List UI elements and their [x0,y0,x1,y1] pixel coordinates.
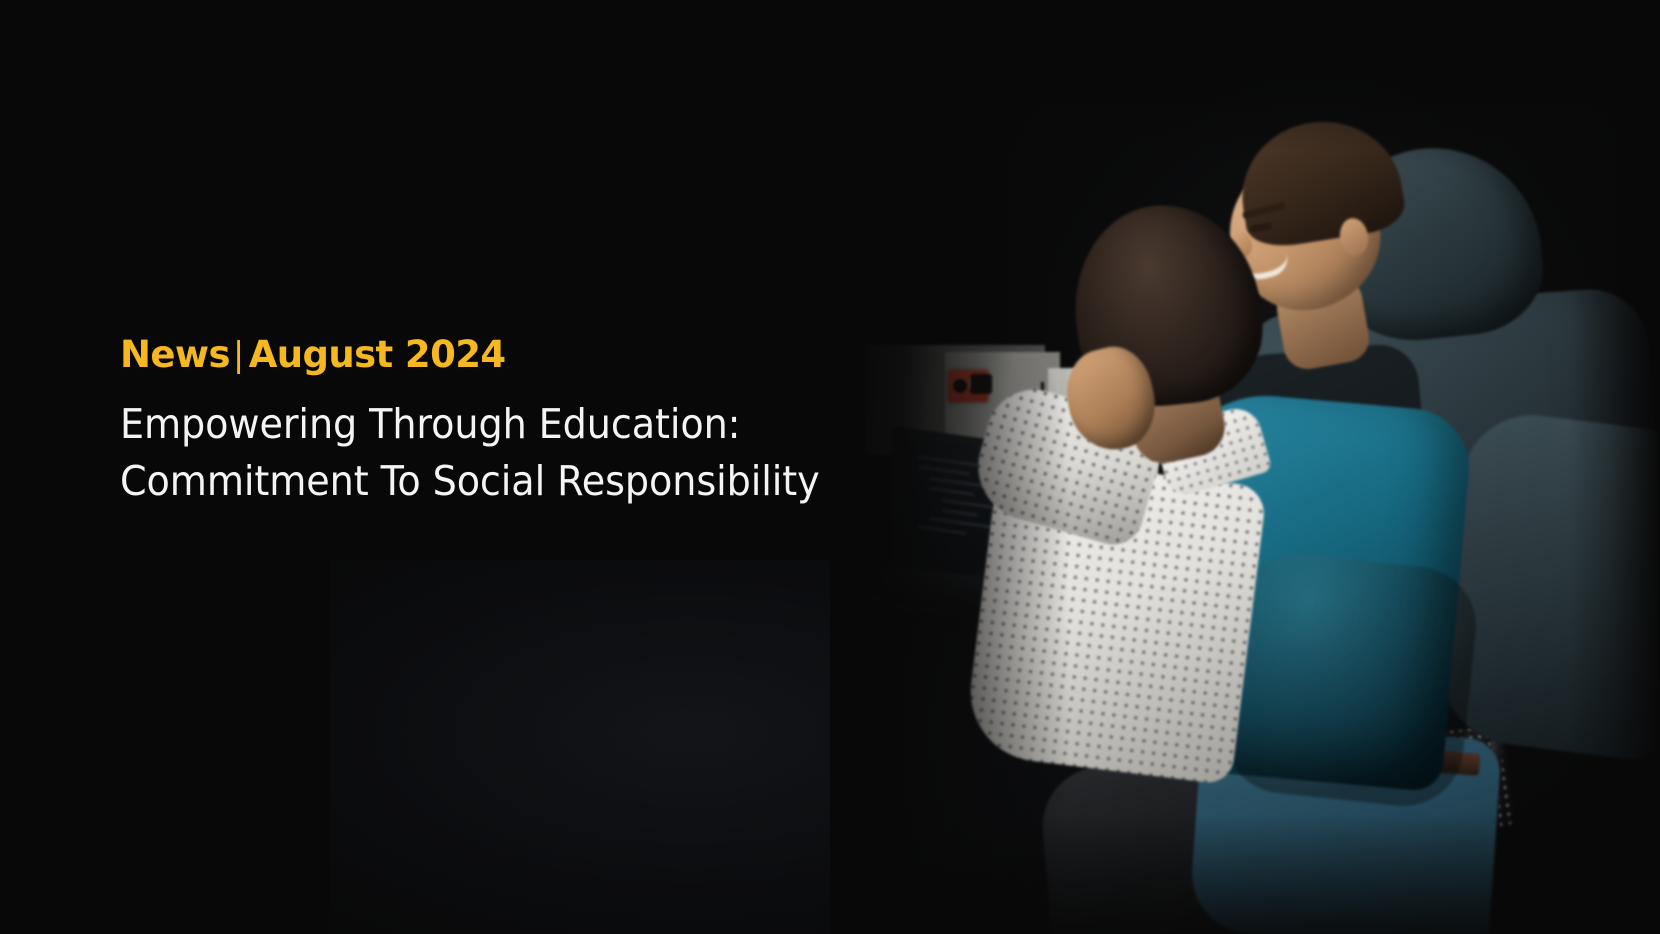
photo-fade-top [830,0,1660,150]
photo-fade-bottom [830,814,1660,934]
headline-line-2: Commitment To Social Responsibility [120,453,827,510]
banner-text-block: News|August 2024 Empowering Through Educ… [120,336,880,511]
eyebrow-date: August 2024 [249,333,506,376]
eyebrow-separator: | [230,335,249,375]
student-vest-shadow [1218,548,1482,812]
banner-eyebrow: News|August 2024 [120,336,880,375]
news-banner: News|August 2024 Empowering Through Educ… [0,0,1660,934]
page-title: Empowering Through Education: Commitment… [120,396,827,511]
headline-line-1: Empowering Through Education: [120,396,827,453]
banner-photo [830,0,1660,934]
eyebrow-category: News [120,333,230,376]
photo-fade-right [1570,0,1660,934]
